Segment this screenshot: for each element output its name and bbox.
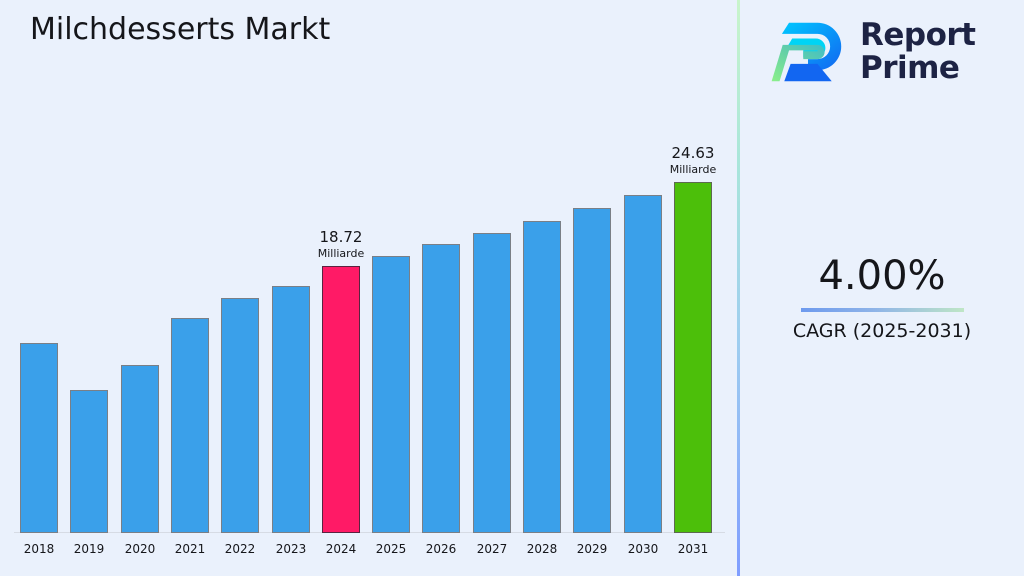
brand-name-line1: Report [860, 19, 976, 52]
bar-2020 [121, 365, 159, 533]
bar-value-number-2024: 18.72 [281, 228, 401, 247]
bar-2029 [573, 208, 611, 533]
right-panel: Report Prime 4.00% CAGR (2025-2031) [740, 0, 1024, 576]
bar-2023 [272, 286, 310, 533]
cagr-block: 4.00% CAGR (2025-2031) [740, 250, 1024, 344]
brand-name-line2: Prime [860, 52, 976, 85]
cagr-caption: CAGR (2025-2031) [740, 318, 1024, 344]
chart-panel: Milchdesserts Markt 20182019202020212022… [0, 0, 738, 576]
bar-2024 [322, 266, 360, 533]
x-axis-tick-2031: 2031 [663, 541, 723, 557]
bar-2025 [372, 256, 410, 533]
bar-2019 [70, 390, 108, 533]
screenshot-root: Milchdesserts Markt 20182019202020212022… [0, 0, 1024, 576]
bar-2031 [674, 182, 712, 533]
bar-2018 [20, 343, 58, 533]
cagr-value: 4.00% [740, 250, 1024, 302]
report-prime-r-logo-icon [768, 18, 848, 86]
bar-2022 [221, 298, 259, 533]
bar-chart-plot: 20182019202020212022202318.72Milliarde20… [0, 0, 738, 576]
bar-value-unit-2031: Milliarde [633, 163, 753, 177]
bar-2028 [523, 221, 561, 533]
bar-2026 [422, 244, 460, 533]
bar-value-number-2031: 24.63 [633, 144, 753, 163]
bar-2027 [473, 233, 511, 533]
cagr-divider-rule [801, 308, 964, 312]
bar-2030 [624, 195, 662, 533]
bar-value-label-2031: 24.63Milliarde [633, 144, 753, 177]
bar-2021 [171, 318, 209, 533]
brand-logo: Report Prime [768, 12, 1018, 92]
brand-wordmark: Report Prime [860, 19, 976, 85]
